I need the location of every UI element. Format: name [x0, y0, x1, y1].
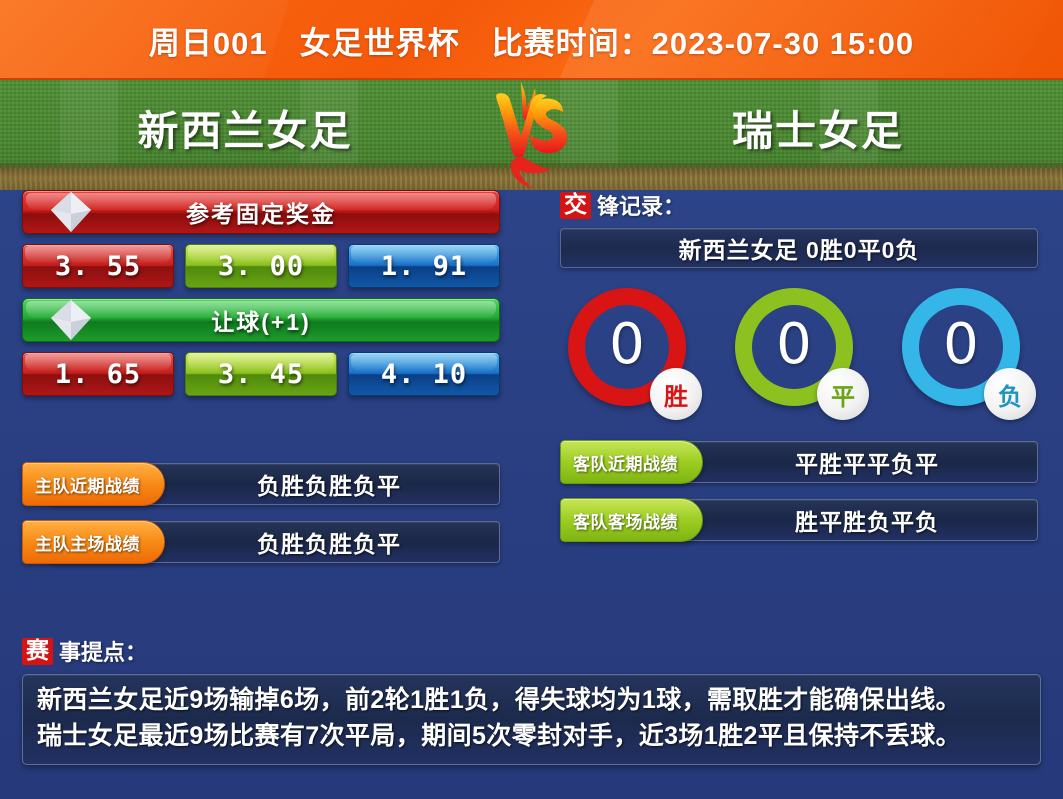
- handicap-odds-lose[interactable]: 4. 10: [348, 352, 500, 396]
- handicap-title: 让球(+1): [211, 303, 311, 337]
- h2h-rings: 0 胜 0 平 0 负: [560, 268, 1038, 416]
- ring-badge-lose: 负: [984, 368, 1036, 420]
- analysis-title-badge: 赛: [22, 638, 53, 665]
- home-recent-form-row: 主队近期战绩 负胜负胜负平: [22, 462, 500, 506]
- ring-value-draw: 0: [776, 317, 812, 373]
- ring-badge-draw: 平: [817, 368, 869, 420]
- fixed-odds-draw[interactable]: 3. 00: [185, 244, 337, 288]
- away-team-name: 瑞士女足: [628, 96, 1008, 158]
- fixed-odds-lose[interactable]: 1. 91: [348, 244, 500, 288]
- fixed-odds-title: 参考固定奖金: [186, 195, 336, 229]
- diamond-gem-icon: [45, 294, 97, 346]
- away-recent-form-row: 客队近期战绩 平胜平平负平: [560, 440, 1038, 484]
- analysis-section: 赛 事提点： 新西兰女足近9场输掉6场，前2轮1胜1负，得失球均为1球，需取胜才…: [22, 636, 1041, 765]
- home-home-form-row: 主队主场战绩 负胜负胜负平: [22, 520, 500, 564]
- analysis-title-text: 事提点：: [59, 635, 147, 667]
- h2h-title-badge: 交: [560, 192, 591, 219]
- h2h-column: 交 锋记录： 新西兰女足 0胜0平0负 0 胜 0 平: [560, 190, 1038, 542]
- odds-column: 参考固定奖金 3. 55 3. 00 1. 91 让球(+1) 1: [22, 190, 500, 564]
- page-header: 周日001 女足世界杯 比赛时间：2023-07-30 15:00: [0, 0, 1063, 80]
- ring-badge-win: 胜: [650, 368, 702, 420]
- away-away-form-row: 客队客场战绩 胜平胜负平负: [560, 498, 1038, 542]
- diamond-gem-icon: [45, 186, 97, 238]
- home-recent-form-tag: 主队近期战绩: [22, 462, 165, 506]
- main-body: 参考固定奖金 3. 55 3. 00 1. 91 让球(+1) 1: [0, 190, 1063, 630]
- fixed-odds-win[interactable]: 3. 55: [22, 244, 174, 288]
- h2h-section-title: 交 锋记录：: [560, 190, 1038, 220]
- h2h-summary-bar: 新西兰女足 0胜0平0负: [560, 228, 1038, 268]
- match-preview-page: 周日001 女足世界杯 比赛时间：2023-07-30 15:00 新西兰女足 …: [0, 0, 1063, 799]
- fixed-odds-row: 3. 55 3. 00 1. 91: [22, 244, 500, 288]
- handicap-odds-win[interactable]: 1. 65: [22, 352, 174, 396]
- away-away-form-tag: 客队客场战绩: [560, 498, 703, 542]
- h2h-ring-lose: 0 负: [902, 288, 1030, 416]
- page-title: 周日001 女足世界杯 比赛时间：2023-07-30 15:00: [0, 0, 1063, 80]
- analysis-line-1: 新西兰女足近9场输掉6场，前2轮1胜1负，得失球均为1球，需取胜才能确保出线。: [37, 683, 1026, 719]
- ring-value-win: 0: [609, 317, 645, 373]
- h2h-ring-draw: 0 平: [735, 288, 863, 416]
- analysis-line-2: 瑞士女足最近9场比赛有7次平局，期间5次零封对手，近3场1胜2平且保持不丢球。: [37, 719, 1026, 755]
- fixed-odds-title-bar: 参考固定奖金: [22, 190, 500, 234]
- analysis-text-box: 新西兰女足近9场输掉6场，前2轮1胜1负，得失球均为1球，需取胜才能确保出线。 …: [22, 674, 1041, 765]
- home-home-form-tag: 主队主场战绩: [22, 520, 165, 564]
- handicap-odds-draw[interactable]: 3. 45: [185, 352, 337, 396]
- vs-icon: [481, 78, 581, 190]
- handicap-title-bar: 让球(+1): [22, 298, 500, 342]
- handicap-odds-row: 1. 65 3. 45 4. 10: [22, 352, 500, 396]
- h2h-title-text: 锋记录：: [597, 189, 685, 221]
- away-recent-form-tag: 客队近期战绩: [560, 440, 703, 484]
- h2h-ring-win: 0 胜: [568, 288, 696, 416]
- ring-value-lose: 0: [943, 317, 979, 373]
- home-team-name: 新西兰女足: [55, 96, 435, 158]
- analysis-section-title: 赛 事提点：: [22, 636, 1041, 666]
